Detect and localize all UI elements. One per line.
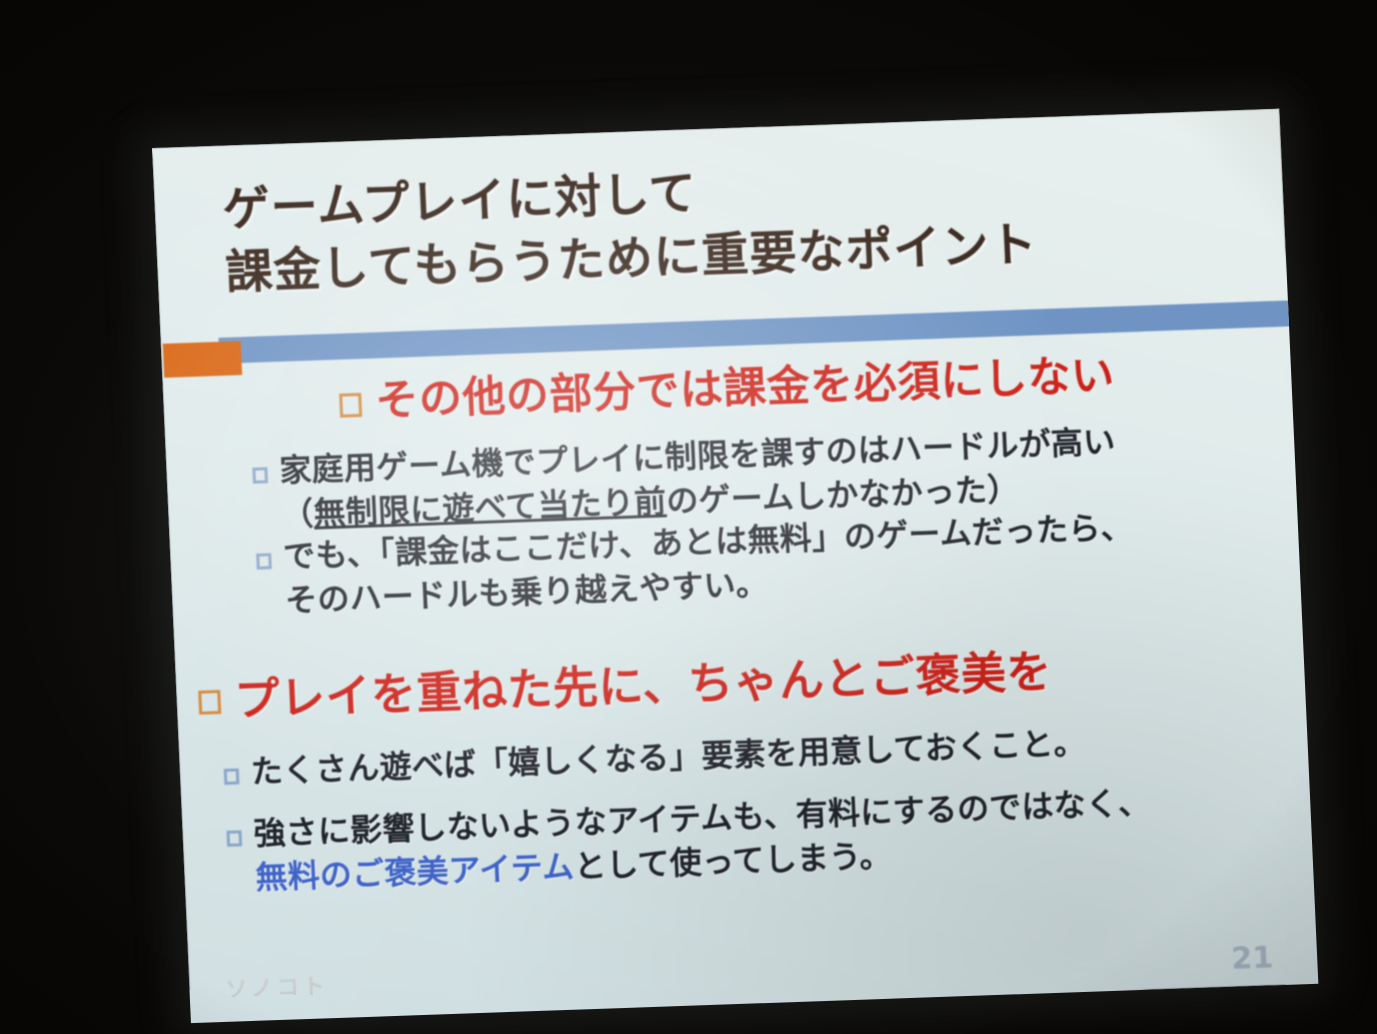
title-accent-block [163,341,242,378]
line-rest: として使ってしまう。 [573,836,892,885]
section-2-bullet-2-text: 強さに影響しないようなアイテムも、有料にするのではなく、 無料のご褒美アイテムと… [253,782,1153,900]
section-2-bullet-2: 強さに影響しないようなアイテムも、有料にするのではなく、 無料のご褒美アイテムと… [226,777,1279,901]
photo-of-projected-slide: ゲームプレイに対して 課金してもらうために重要なポイント その他の部分では課金を… [0,0,1377,1034]
highlighted-phrase: 無料のご褒美アイテム [255,847,575,896]
small-square-bullet-icon [226,830,242,847]
section-1-heading-text: その他の部分では課金を必須にしない [374,351,1115,427]
slide-body: その他の部分では課金を必須にしない 家庭用ゲーム機でプレイに制限を課すのはハード… [152,109,1318,1024]
section-2-bullet-1-text: たくさん遊べば「嬉しくなる」要素を用意しておくこと。 [250,722,1087,795]
projection-screen: ゲームプレイに対して 課金してもらうために重要なポイント その他の部分では課金を… [152,109,1318,1024]
section-2-heading: プレイを重ねた先に、ちゃんとご褒美を [197,645,1053,728]
slide-surface: ゲームプレイに対して 課金してもらうために重要なポイント その他の部分では課金を… [152,109,1318,1024]
square-bullet-icon [198,690,221,715]
section-1-heading: その他の部分では課金を必須にしない [338,351,1115,429]
small-square-bullet-icon [224,768,240,785]
small-square-bullet-icon [252,467,268,484]
section-2-heading-text: プレイを重ねた先に、ちゃんとご褒美を [233,645,1053,727]
square-bullet-icon [339,393,362,418]
small-square-bullet-icon [256,553,272,570]
slide-footer-faint: ソノコト [225,968,330,1004]
paren-open: （ [281,494,315,533]
line: たくさん遊べば「嬉しくなる」要素を用意しておくこと。 [250,722,1087,795]
slide-page-number: 21 [1231,940,1274,976]
